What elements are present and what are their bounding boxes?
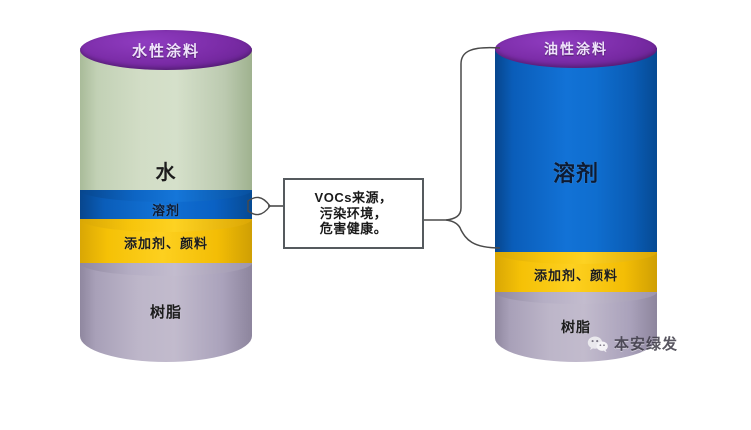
segment-solvent-left: 溶剂	[80, 190, 252, 219]
cylinder-waterborne-coating: 树脂 添加剂、颜料 溶剂 水 水性涂料	[80, 30, 252, 362]
brace-right-top	[446, 48, 500, 220]
callout-line-2: 污染环境，	[320, 206, 388, 222]
segment-label-additives-right: 添加剂、颜料	[495, 265, 657, 284]
callout-line-3: 危害健康。	[320, 221, 388, 237]
segment-label-solvent-left: 溶剂	[80, 200, 252, 219]
segment-additives-right: 添加剂、颜料	[495, 252, 657, 292]
segment-label-water-left: 水	[80, 156, 252, 185]
watermark-text: 本安绿发	[614, 333, 678, 354]
wechat-icon	[587, 335, 609, 353]
brace-right-bottom	[446, 220, 500, 248]
segment-additives-left: 添加剂、颜料	[80, 219, 252, 263]
segment-solvent-right: 溶剂	[495, 48, 657, 252]
cylinder-lid-waterborne: 水性涂料	[80, 30, 252, 70]
cylinder-lid-label-waterborne: 水性涂料	[132, 40, 200, 61]
segment-label-solvent-right: 溶剂	[495, 156, 657, 188]
segment-resin-left: 树脂	[80, 263, 252, 362]
callout-box: VOCs来源， 污染环境， 危害健康。	[283, 178, 424, 249]
segment-label-resin-left: 树脂	[80, 301, 252, 322]
cylinder-lid-label-solventborne: 油性涂料	[544, 39, 608, 59]
watermark: 本安绿发	[587, 333, 678, 354]
cylinder-solventborne-coating: 树脂 添加剂、颜料 溶剂 油性涂料	[495, 30, 657, 362]
diagram-canvas: 树脂 添加剂、颜料 溶剂 水 水性涂料 树脂	[0, 0, 751, 430]
segment-label-additives-left: 添加剂、颜料	[80, 233, 252, 252]
wechat-icon-glyph	[587, 335, 609, 353]
cylinder-lid-solventborne: 油性涂料	[495, 30, 657, 68]
callout-line-1: VOCs来源，	[315, 190, 393, 206]
